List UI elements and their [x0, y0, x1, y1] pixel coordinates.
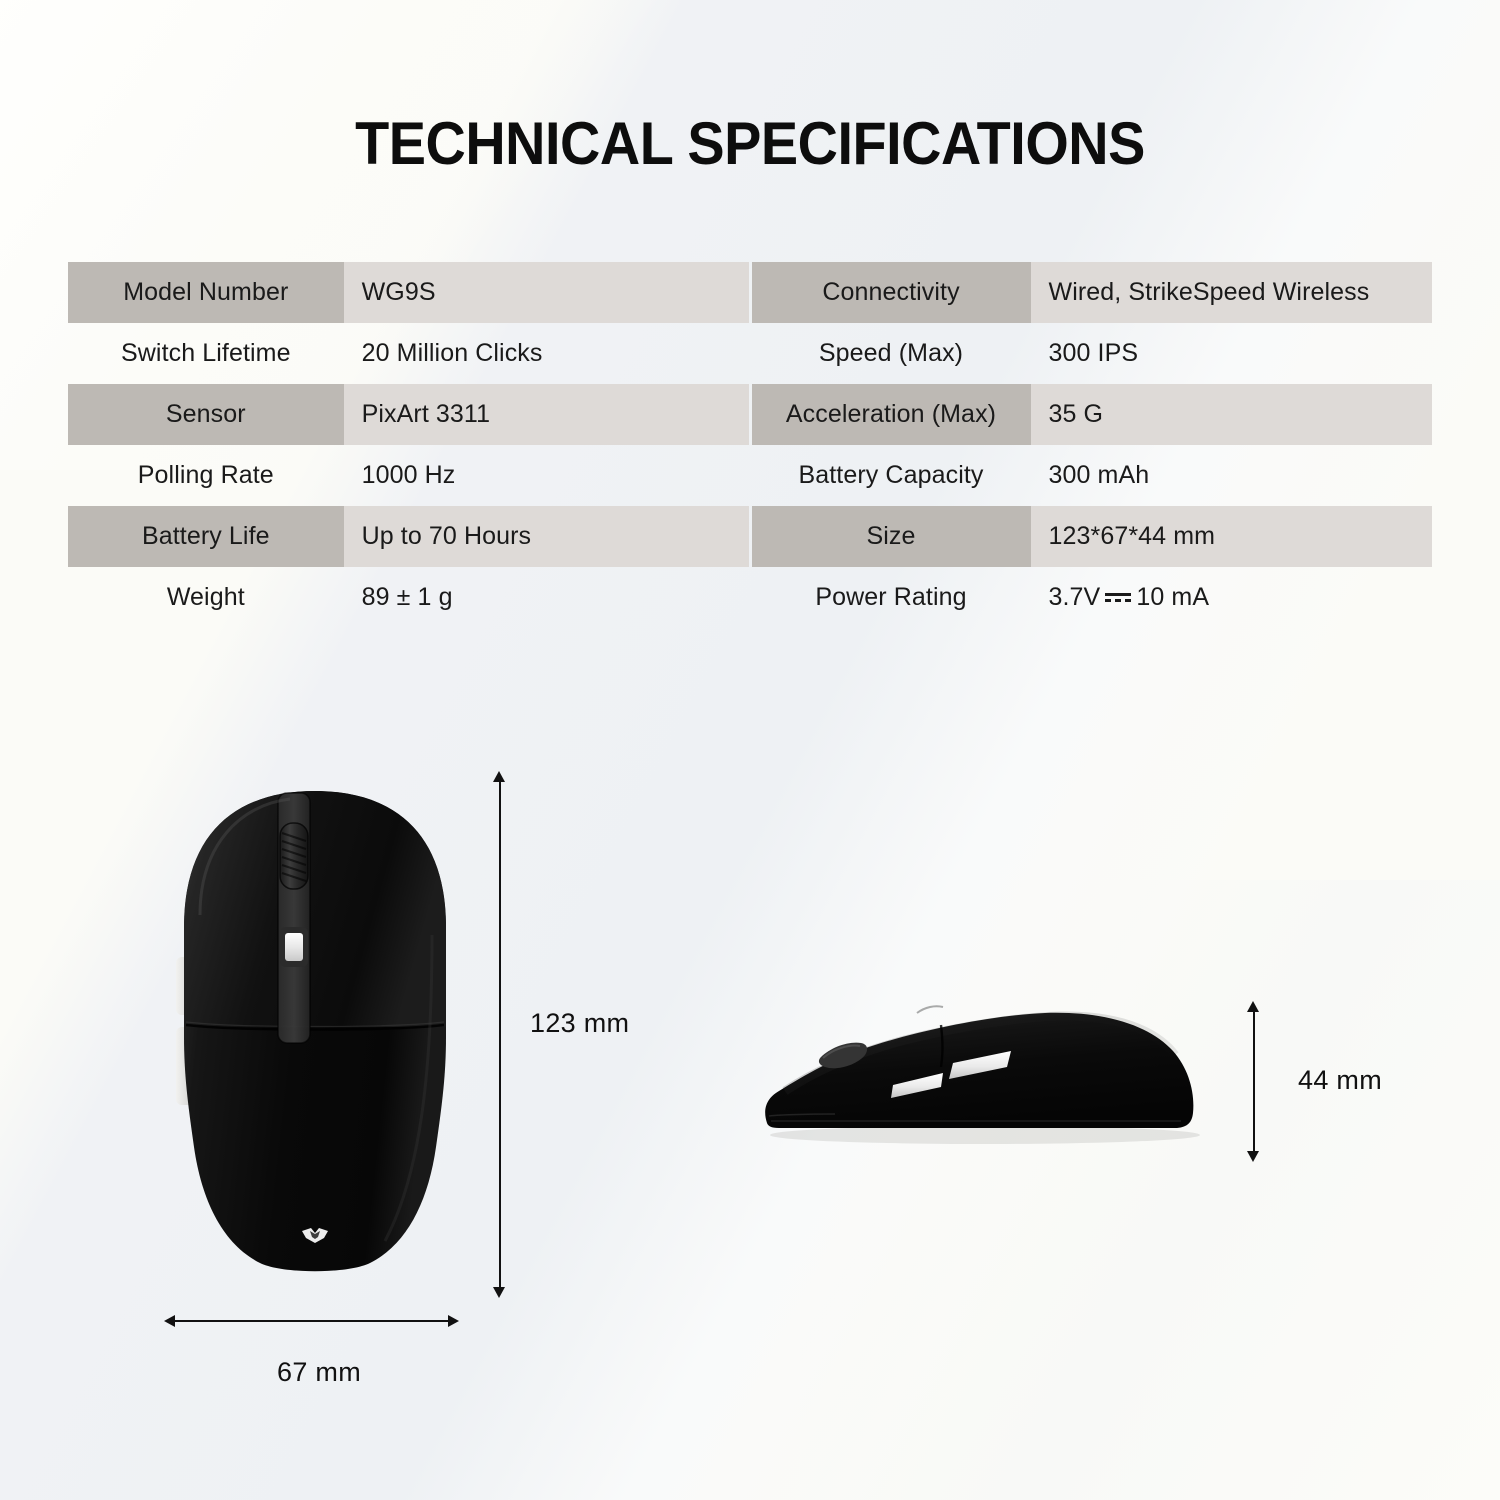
- power-rating-voltage: 3.7V: [1049, 583, 1101, 612]
- table-row: Power Rating 3.7V 10 mA: [752, 567, 1433, 628]
- spec-label: Acceleration (Max): [752, 384, 1031, 445]
- spec-value: 89 ± 1 g: [344, 567, 749, 628]
- spec-label: Weight: [68, 567, 344, 628]
- table-row: Size 123*67*44 mm: [752, 506, 1433, 567]
- table-row: Battery Life Up to 70 Hours: [68, 506, 749, 567]
- side-top-notch: [917, 1006, 943, 1013]
- side-button-seam: [941, 1025, 943, 1067]
- dim-line-depth: [1253, 1012, 1255, 1151]
- spec-value: 35 G: [1031, 384, 1433, 445]
- table-row: Battery Capacity 300 mAh: [752, 445, 1433, 506]
- dim-line-height: [499, 782, 501, 1287]
- dim-label-height: 123 mm: [530, 1008, 629, 1039]
- spec-value: 1000 Hz: [344, 445, 749, 506]
- spec-label: Connectivity: [752, 262, 1031, 323]
- spec-column-left: Model Number WG9S Switch Lifetime 20 Mil…: [68, 262, 749, 628]
- dim-arrow-height-bottom: [493, 1287, 505, 1298]
- dim-line-width: [175, 1320, 448, 1322]
- table-row: Switch Lifetime 20 Million Clicks: [68, 323, 749, 384]
- mouse-shadow: [770, 1126, 1200, 1144]
- dim-label-width: 67 mm: [277, 1357, 361, 1388]
- spec-value: 300 IPS: [1031, 323, 1433, 384]
- table-row: Model Number WG9S: [68, 262, 749, 323]
- spec-column-right: Connectivity Wired, StrikeSpeed Wireless…: [752, 262, 1433, 628]
- spec-label: Model Number: [68, 262, 344, 323]
- table-row: Weight 89 ± 1 g: [68, 567, 749, 628]
- dim-arrow-width-right: [448, 1315, 459, 1327]
- dim-arrow-depth-top: [1247, 1001, 1259, 1012]
- spec-label: Battery Capacity: [752, 445, 1031, 506]
- mouse-side-view: [745, 995, 1215, 1165]
- spec-label: Switch Lifetime: [68, 323, 344, 384]
- spec-value: Up to 70 Hours: [344, 506, 749, 567]
- table-row: Polling Rate 1000 Hz: [68, 445, 749, 506]
- power-rating-current: 10 mA: [1136, 583, 1209, 612]
- mouse-button-panel: [184, 791, 446, 1027]
- dpi-button[interactable]: [285, 933, 303, 961]
- spec-value: PixArt 3311: [344, 384, 749, 445]
- dim-arrow-width-left: [164, 1315, 175, 1327]
- table-row: Sensor PixArt 3311: [68, 384, 749, 445]
- table-row: Connectivity Wired, StrikeSpeed Wireless: [752, 262, 1433, 323]
- table-row: Acceleration (Max) 35 G: [752, 384, 1433, 445]
- spec-value: 20 Million Clicks: [344, 323, 749, 384]
- dim-arrow-height-top: [493, 771, 505, 782]
- spec-value-power-rating: 3.7V 10 mA: [1031, 567, 1433, 628]
- specifications-table: Model Number WG9S Switch Lifetime 20 Mil…: [68, 262, 1432, 628]
- product-images-section: 123 mm 67 mm: [0, 740, 1500, 1440]
- dim-arrow-depth-bottom: [1247, 1151, 1259, 1162]
- spec-label: Speed (Max): [752, 323, 1031, 384]
- spec-value: Wired, StrikeSpeed Wireless: [1031, 262, 1433, 323]
- spec-label: Power Rating: [752, 567, 1031, 628]
- page-title: TECHNICAL SPECIFICATIONS: [53, 112, 1448, 175]
- dc-current-icon: [1105, 590, 1131, 605]
- table-row: Speed (Max) 300 IPS: [752, 323, 1433, 384]
- spec-label: Sensor: [68, 384, 344, 445]
- dim-label-depth: 44 mm: [1298, 1065, 1382, 1096]
- spec-sheet-page: TECHNICAL SPECIFICATIONS Model Number WG…: [0, 0, 1500, 1500]
- spec-label: Size: [752, 506, 1031, 567]
- spec-label: Polling Rate: [68, 445, 344, 506]
- spec-value: 123*67*44 mm: [1031, 506, 1433, 567]
- spec-value: 300 mAh: [1031, 445, 1433, 506]
- spec-value: WG9S: [344, 262, 749, 323]
- mouse-top-view: [170, 775, 460, 1295]
- spec-label: Battery Life: [68, 506, 344, 567]
